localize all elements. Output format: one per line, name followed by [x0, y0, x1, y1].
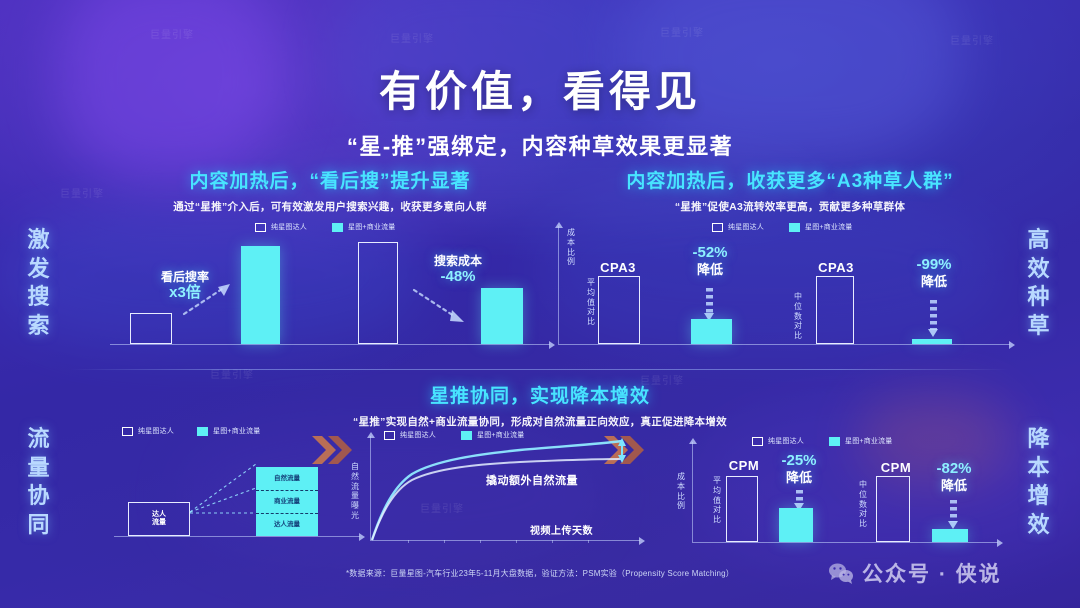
slide-canvas: 巨量引擎 巨量引擎 巨量引擎 巨量引擎 巨量引擎 巨量引擎 巨量引擎 巨量引擎 …	[0, 0, 1080, 608]
annotation-line-1: -99%	[896, 256, 972, 274]
side-label-top-left: 激 发 搜 索	[18, 226, 60, 340]
side-label-char: 发	[18, 255, 60, 284]
legend-swatch-outline-icon	[122, 427, 133, 436]
annotation-line-2: 降低	[896, 274, 972, 290]
legend-swatch-solid-icon	[197, 427, 208, 436]
section-subtitle: 通过“星推”介入后，可有效激发用户搜索兴趣，收获更多意向人群	[110, 199, 550, 214]
annotation-search-cost: 搜索成本 -48%	[410, 254, 506, 286]
legend-swatch-outline-icon	[712, 223, 723, 232]
x-axis-tick	[552, 540, 553, 543]
side-label-char: 草	[1018, 312, 1060, 341]
bar-caption-cpa3-1: CPA3	[588, 260, 648, 275]
legend-swatch-solid-icon	[829, 437, 840, 446]
section-header-top-left: 内容加热后，“看后搜”提升显著 通过“星推”介入后，可有效激发用户搜索兴趣，收获…	[110, 166, 550, 214]
bar-solid-cpm-avg-reduced	[779, 508, 813, 542]
legend-item-outline: 纯星图达人	[255, 222, 307, 232]
section-subtitle: “星推”促使A3流转效率更高，贡献更多种草群体	[570, 199, 1010, 214]
bar-caption-cpa3-2: CPA3	[806, 260, 866, 275]
y-axis	[692, 442, 693, 542]
legend-label: 星图+商业流量	[477, 430, 525, 440]
annotation-line-2: 降低	[672, 262, 748, 278]
dotted-arrow-down-icon	[950, 500, 957, 522]
chart-legend: 纯星图达人 星图+商业流量	[122, 426, 261, 436]
annotation-line-2: 降低	[920, 478, 988, 494]
legend-label: 星图+商业流量	[348, 222, 396, 232]
bar-outline-cpm-med-base	[876, 476, 910, 542]
wechat-badge: 公众号 · 侠说	[828, 558, 1002, 588]
x-axis	[558, 344, 1010, 345]
x-axis-tick	[408, 540, 409, 543]
x-axis-tick	[480, 540, 481, 543]
legend-item-solid: 星图+商业流量	[332, 222, 396, 232]
axis-note-median: 中位数对比	[791, 292, 805, 341]
chart-search-lift: 纯星图达人 星图+商业流量 看后搜率 x3倍 搜索成本 -48%	[110, 218, 550, 358]
legend-label: 纯星图达人	[138, 426, 174, 436]
side-label-char: 流	[18, 425, 60, 454]
bar-caption-cpm-1: CPM	[714, 458, 774, 473]
annotation-a3-avg: -52% 降低	[672, 244, 748, 278]
annotation-line-1: -82%	[920, 460, 988, 478]
page-title: 有价值，看得见	[0, 58, 1080, 119]
side-label-char: 降	[1018, 425, 1060, 454]
bar-outline-cost-base	[358, 242, 398, 344]
side-label-char: 协	[18, 482, 60, 511]
annotation-line-1: -25%	[766, 452, 832, 470]
bar-solid-search-boost	[241, 246, 280, 344]
bar-outline-cpa3-med-base	[816, 276, 854, 344]
x-axis-label: 视频上传天数	[530, 522, 593, 537]
bar-label: 达人流量	[152, 511, 166, 528]
bar-outline-creator-traffic: 达人流量	[128, 502, 190, 536]
badge-text: 公众号 · 侠说	[862, 558, 1002, 588]
side-label-char: 种	[1018, 283, 1060, 312]
stack-segment-natural: 自然流量	[256, 467, 318, 490]
side-label-top-right: 高 效 种 草	[1018, 226, 1060, 340]
bar-solid-cpa3-med-reduced	[912, 339, 952, 344]
legend-item-solid: 星图+商业流量	[829, 436, 893, 446]
watermark: 巨量引擎	[390, 30, 434, 45]
side-label-bottom-right: 降 本 增 效	[1018, 425, 1060, 539]
side-label-char: 量	[18, 454, 60, 483]
chart-natural-traffic-curve: 自然流量曝光 撬动额外自然流量 视频上传天数 纯星图达人 星	[348, 428, 648, 550]
x-axis	[114, 536, 360, 537]
dotted-arrow-up-icon	[182, 284, 232, 314]
x-axis-tick	[516, 540, 517, 543]
x-axis-tick	[588, 540, 589, 543]
annotation-line-2: -48%	[410, 268, 506, 286]
connector-lines-icon	[184, 462, 264, 520]
legend-swatch-solid-icon	[789, 223, 800, 232]
legend-label: 星图+商业流量	[805, 222, 853, 232]
section-title: 内容加热后，“看后搜”提升显著	[110, 166, 550, 193]
legend-swatch-solid-icon	[332, 223, 343, 232]
annotation-cpm-median: -82% 降低	[920, 460, 988, 494]
page-subtitle: “星-推”强绑定，内容种草效果更显著	[0, 129, 1080, 161]
dotted-arrow-down-icon	[412, 288, 466, 322]
legend-label: 星图+商业流量	[213, 426, 261, 436]
legend-item-solid: 星图+商业流量	[197, 426, 261, 436]
annotation-line-1: 搜索成本	[410, 254, 506, 268]
watermark: 巨量引擎	[150, 26, 194, 41]
annotation-line-1: 看后搜率	[130, 270, 240, 284]
stack-segment-label: 自然流量	[274, 475, 300, 482]
bar-outline-search-base	[130, 313, 172, 344]
legend-label: 纯星图达人	[768, 436, 804, 446]
bar-caption-cpm-2: CPM	[866, 460, 926, 475]
watermark: 巨量引擎	[60, 185, 104, 200]
bar-outline-cpa3-avg-base	[598, 276, 640, 344]
section-header-top-right: 内容加热后，收获更多“A3种草人群” “星推”促使A3流转效率更高，贡献更多种草…	[570, 166, 1010, 214]
axis-note-average: 平均值对比	[710, 476, 724, 525]
section-title: 内容加热后，收获更多“A3种草人群”	[570, 166, 1010, 193]
stack-segment-label: 达人流量	[274, 521, 300, 528]
wechat-icon	[828, 562, 854, 584]
axis-note-average: 平均值对比	[584, 278, 598, 327]
stack-segment-commercial: 商业流量	[256, 490, 318, 513]
y-axis-label: 成本比例	[674, 472, 688, 511]
legend-swatch-outline-icon	[752, 437, 763, 446]
legend-item-solid: 星图+商业流量	[789, 222, 853, 232]
legend-swatch-solid-icon	[461, 431, 472, 440]
stack-divider	[256, 513, 318, 514]
bar-outline-cpm-avg-base	[726, 476, 758, 542]
side-label-char: 搜	[18, 283, 60, 312]
side-label-char: 同	[18, 511, 60, 540]
axis-note-median: 中位数对比	[856, 480, 870, 529]
annotation-a3-median: -99% 降低	[896, 256, 972, 290]
annotation-line-1: -52%	[672, 244, 748, 262]
curve-series-icon	[370, 436, 642, 542]
side-label-bottom-left: 流 量 协 同	[18, 425, 60, 539]
chart-cpm-cost: 纯星图达人 星图+商业流量 成本比例 平均值对比 CPM -25% 降低 中位数…	[652, 428, 1004, 550]
chart-legend: 纯星图达人 星图+商业流量	[255, 222, 396, 232]
legend-label: 星图+商业流量	[845, 436, 893, 446]
watermark: 巨量引擎	[950, 32, 994, 47]
bar-solid-cost-reduced	[481, 288, 523, 344]
side-label-char: 高	[1018, 226, 1060, 255]
side-label-char: 索	[18, 312, 60, 341]
chart-legend: 纯星图达人 星图+商业流量	[752, 436, 893, 446]
x-axis	[692, 542, 998, 543]
legend-swatch-outline-icon	[255, 223, 266, 232]
dotted-arrow-down-icon	[796, 490, 803, 504]
legend-item-solid: 星图+商业流量	[461, 430, 525, 440]
stack-divider	[256, 490, 318, 491]
legend-item-outline: 纯星图达人	[384, 430, 436, 440]
stack-segment-creator: 达人流量	[256, 513, 318, 536]
chart-legend: 纯星图达人 星图+商业流量	[384, 430, 525, 440]
section-divider	[70, 369, 1010, 370]
side-label-char: 激	[18, 226, 60, 255]
side-label-char: 效	[1018, 255, 1060, 284]
side-label-char: 本	[1018, 454, 1060, 483]
legend-item-outline: 纯星图达人	[712, 222, 764, 232]
legend-label: 纯星图达人	[400, 430, 436, 440]
watermark: 巨量引擎	[660, 24, 704, 39]
legend-swatch-outline-icon	[384, 431, 395, 440]
y-axis-label: 自然流量曝光	[348, 462, 362, 521]
legend-item-outline: 纯星图达人	[122, 426, 174, 436]
dotted-arrow-down-icon	[706, 288, 713, 314]
chart-a3-cost: 纯星图达人 星图+商业流量 成本比例 平均值对比 CPA3 -52% 降低 中位…	[552, 218, 1010, 358]
legend-label: 纯星图达人	[271, 222, 307, 232]
legend-item-outline: 纯星图达人	[752, 436, 804, 446]
x-axis-tick	[444, 540, 445, 543]
curve-annotation: 撬动额外自然流量	[486, 472, 578, 488]
y-axis-label: 成本比例	[564, 228, 578, 267]
title-block: 有价值，看得见 “星-推”强绑定，内容种草效果更显著	[0, 58, 1080, 161]
side-label-char: 增	[1018, 482, 1060, 511]
section-title: 星推协同，实现降本增效	[260, 381, 820, 408]
y-axis	[558, 226, 559, 344]
bar-solid-cpm-med-reduced	[932, 529, 968, 542]
bar-solid-cpa3-avg-reduced	[691, 319, 732, 344]
annotation-cpm-avg: -25% 降低	[766, 452, 832, 486]
section-header-bottom: 星推协同，实现降本增效 “星推”实现自然+商业流量协同，形成对自然流量正向效应，…	[260, 381, 820, 429]
chart-legend: 纯星图达人 星图+商业流量	[712, 222, 853, 232]
x-axis	[110, 344, 550, 345]
stack-segment-label: 商业流量	[274, 498, 300, 505]
side-label-char: 效	[1018, 511, 1060, 540]
dotted-arrow-down-icon	[930, 300, 937, 330]
legend-label: 纯星图达人	[728, 222, 764, 232]
annotation-line-2: 降低	[766, 470, 832, 486]
